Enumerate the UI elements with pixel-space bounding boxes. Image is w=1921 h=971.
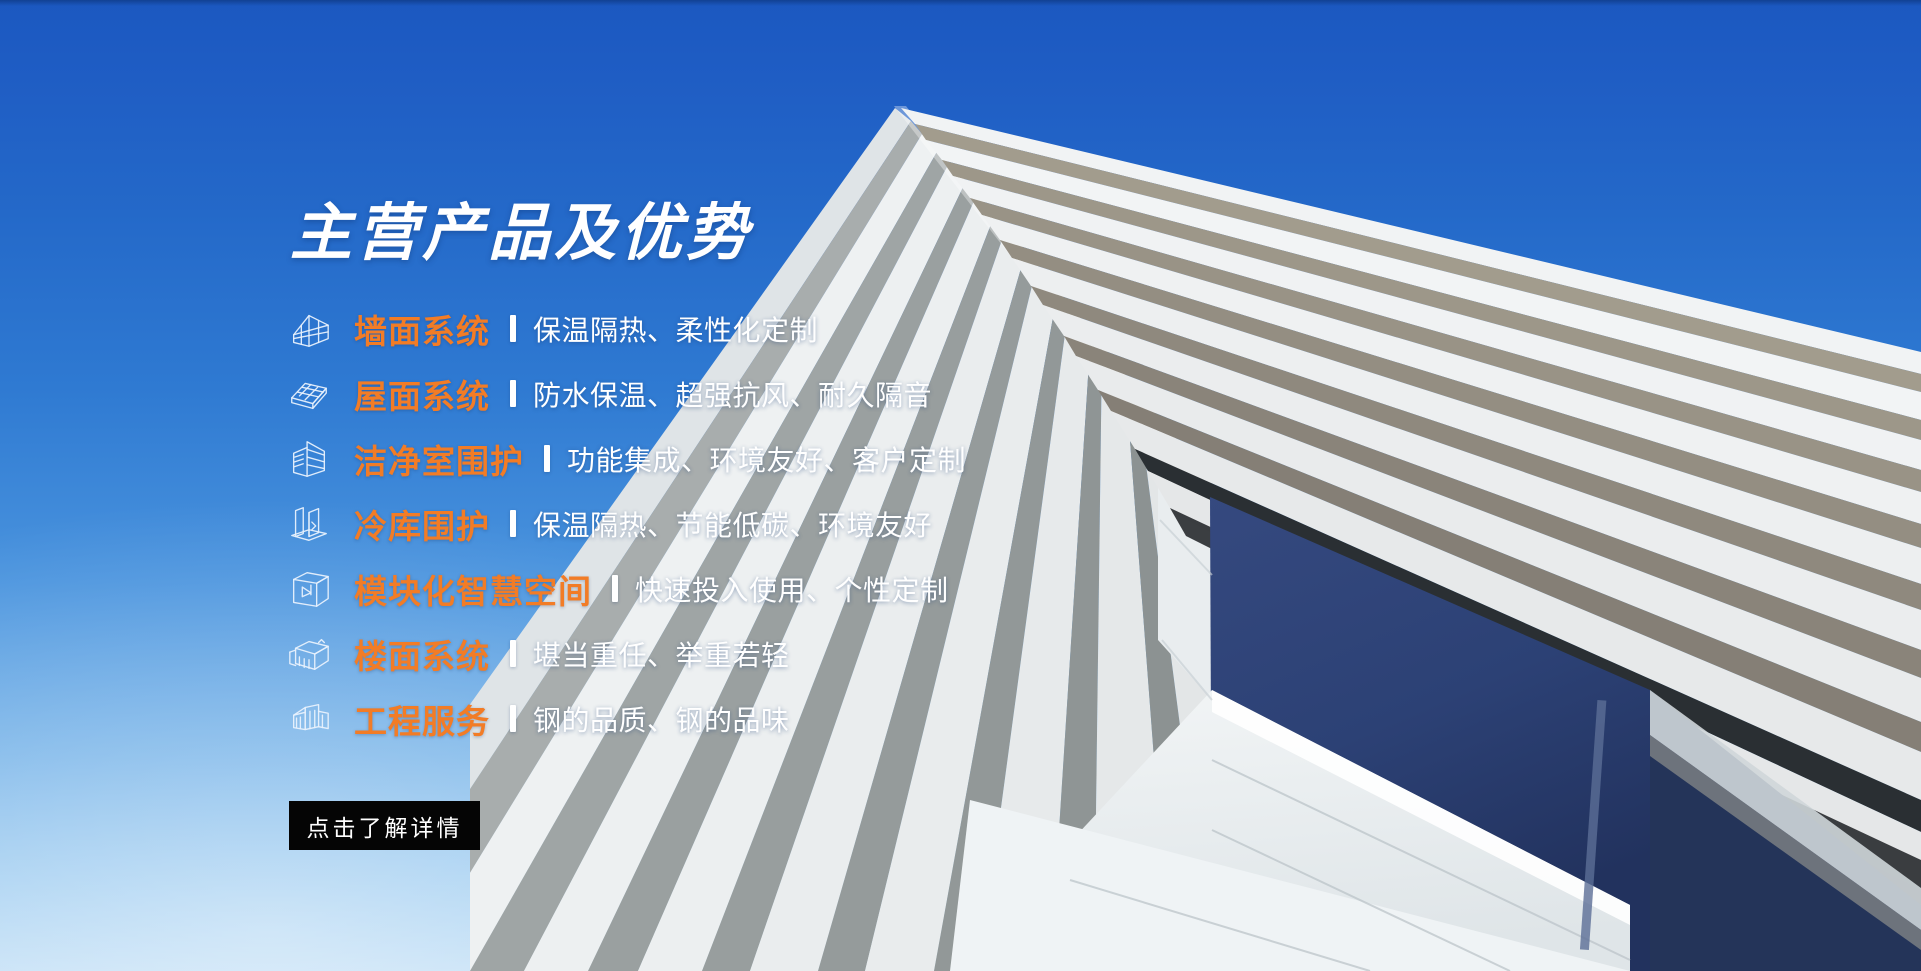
product-desc: 快速投入使用、个性定制 — [635, 569, 949, 609]
product-name: 模块化智慧空间 — [354, 565, 592, 613]
separator-bar — [510, 640, 516, 667]
roof-panel-icon — [286, 371, 332, 417]
separator-bar — [544, 445, 550, 472]
product-desc: 保温隔热、柔性化定制 — [533, 309, 818, 349]
product-desc: 钢的品质、钢的品味 — [533, 699, 790, 739]
product-desc: 功能集成、环境友好、客户定制 — [567, 439, 966, 479]
list-item[interactable]: 模块化智慧空间 快速投入使用、个性定制 — [286, 556, 1186, 621]
cold-storage-item[interactable]: 冷库围护 保温隔热、节能低碳、环境友好 — [286, 491, 1186, 556]
list-item[interactable]: 屋面系统 防水保温、超强抗风、耐久隔音 — [286, 361, 1186, 426]
list-item[interactable]: 洁净室围护 功能集成、环境友好、客户定制 — [286, 426, 1186, 491]
product-advantage-banner: 主营产品及优势 墙面系统 保温隔热、柔性化定制 — [0, 0, 1921, 971]
modular-cube-icon — [286, 566, 332, 612]
separator-bar — [510, 510, 516, 537]
list-item[interactable]: 楼面系统 堪当重任、举重若轻 — [286, 621, 1186, 686]
product-name: 屋面系统 — [354, 370, 490, 418]
product-desc: 防水保温、超强抗风、耐久隔音 — [533, 374, 932, 414]
product-desc: 堪当重任、举重若轻 — [533, 634, 790, 674]
separator-bar — [510, 705, 516, 732]
separator-bar — [510, 315, 516, 342]
product-name: 洁净室围护 — [354, 435, 524, 483]
separator-bar — [612, 575, 618, 602]
separator-bar — [510, 380, 516, 407]
page-title: 主营产品及优势 — [290, 203, 752, 265]
cold-storage-icon — [286, 501, 332, 547]
product-desc: 保温隔热、节能低碳、环境友好 — [533, 504, 932, 544]
product-name: 工程服务 — [354, 695, 490, 743]
product-name: 墙面系统 — [354, 305, 490, 353]
factory-service-icon — [286, 696, 332, 742]
wall-frame-icon — [286, 306, 332, 352]
content-panel: 主营产品及优势 墙面系统 保温隔热、柔性化定制 — [0, 0, 1000, 971]
product-name: 楼面系统 — [354, 630, 490, 678]
product-name: 冷库围护 — [354, 500, 490, 548]
list-item[interactable]: 墙面系统 保温隔热、柔性化定制 — [286, 296, 1186, 361]
product-list: 墙面系统 保温隔热、柔性化定制 屋面系统 — [286, 296, 1186, 751]
learn-more-button[interactable]: 点击了解详情 — [289, 801, 480, 850]
list-item[interactable]: 工程服务 钢的品质、钢的品味 — [286, 686, 1186, 751]
floor-deck-icon — [286, 631, 332, 677]
cleanroom-building-icon — [286, 436, 332, 482]
